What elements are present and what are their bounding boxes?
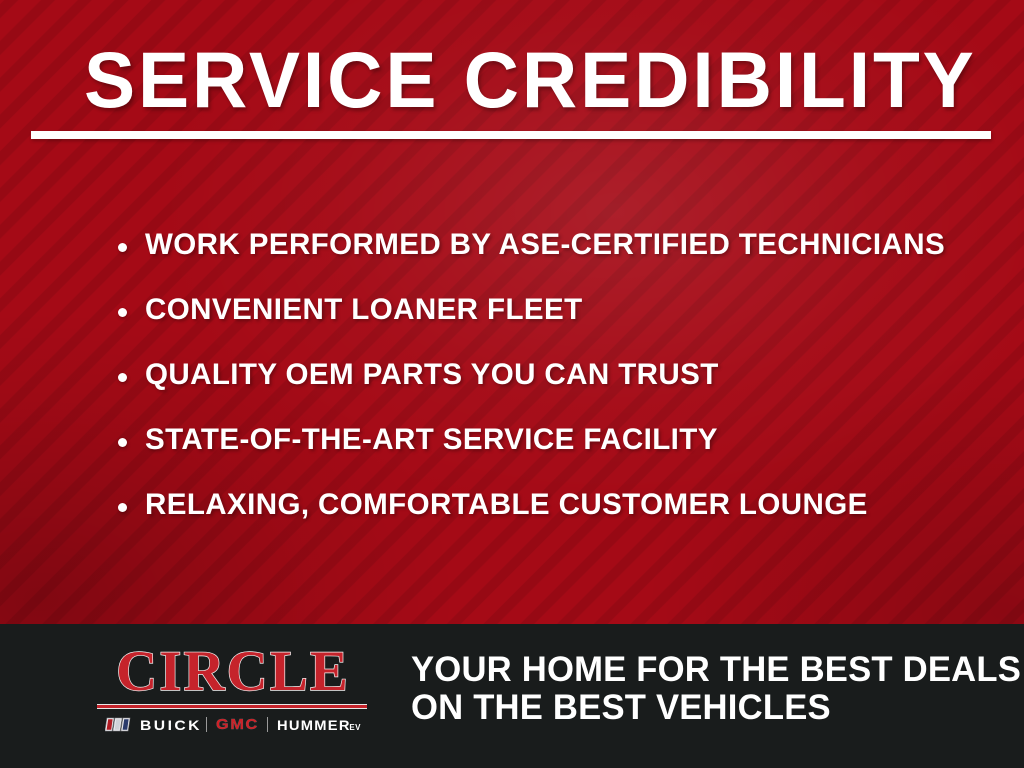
list-item: RELAXING, COMFORTABLE CUSTOMER LOUNGE <box>118 488 978 553</box>
logo-wordmark: CIRCLE <box>97 643 369 700</box>
list-item-label: RELAXING, COMFORTABLE CUSTOMER LOUNGE <box>145 488 868 522</box>
brand-divider <box>267 717 268 732</box>
brand-label-gmc: GMC <box>216 716 259 733</box>
buick-tri-shield-icon <box>105 717 131 732</box>
title-underline-rule <box>31 131 991 139</box>
list-item-label: QUALITY OEM PARTS YOU CAN TRUST <box>145 358 719 392</box>
slide-root: SERVICE CREDIBILITY WORK PERFORMED BY AS… <box>0 0 1024 768</box>
list-item: WORK PERFORMED BY ASE-CERTIFIED TECHNICI… <box>118 228 978 293</box>
brand-label-hummer-ev-suffix: EV <box>349 723 360 733</box>
logo-underline-rule <box>97 704 367 709</box>
brand-label-buick: BUICK <box>140 717 202 733</box>
bullet-list: WORK PERFORMED BY ASE-CERTIFIED TECHNICI… <box>118 228 978 553</box>
bullet-dot-icon <box>118 438 127 447</box>
brand-label-hummer: HUMMER <box>277 717 351 733</box>
brand-divider <box>206 717 207 732</box>
list-item: STATE-OF-THE-ART SERVICE FACILITY <box>118 423 978 488</box>
bullet-dot-icon <box>118 308 127 317</box>
tagline-line-1: YOUR HOME FOR THE BEST DEALS <box>411 652 995 687</box>
page-title: SERVICE CREDIBILITY <box>84 38 957 122</box>
tagline-line-2: ON THE BEST VEHICLES <box>411 690 995 725</box>
list-item-label: STATE-OF-THE-ART SERVICE FACILITY <box>145 423 718 457</box>
footer-tagline: YOUR HOME FOR THE BEST DEALS ON THE BEST… <box>411 652 1001 725</box>
list-item: CONVENIENT LOANER FLEET <box>118 293 978 358</box>
dealer-logo: CIRCLE BUICK GMC HUMMER <box>97 643 369 733</box>
list-item-label: WORK PERFORMED BY ASE-CERTIFIED TECHNICI… <box>145 228 945 262</box>
bullet-dot-icon <box>118 503 127 512</box>
bullet-dot-icon <box>118 243 127 252</box>
list-item: QUALITY OEM PARTS YOU CAN TRUST <box>118 358 978 423</box>
bullet-dot-icon <box>118 373 127 382</box>
brand-strip: BUICK GMC HUMMER EV <box>97 716 369 733</box>
list-item-label: CONVENIENT LOANER FLEET <box>145 293 583 327</box>
